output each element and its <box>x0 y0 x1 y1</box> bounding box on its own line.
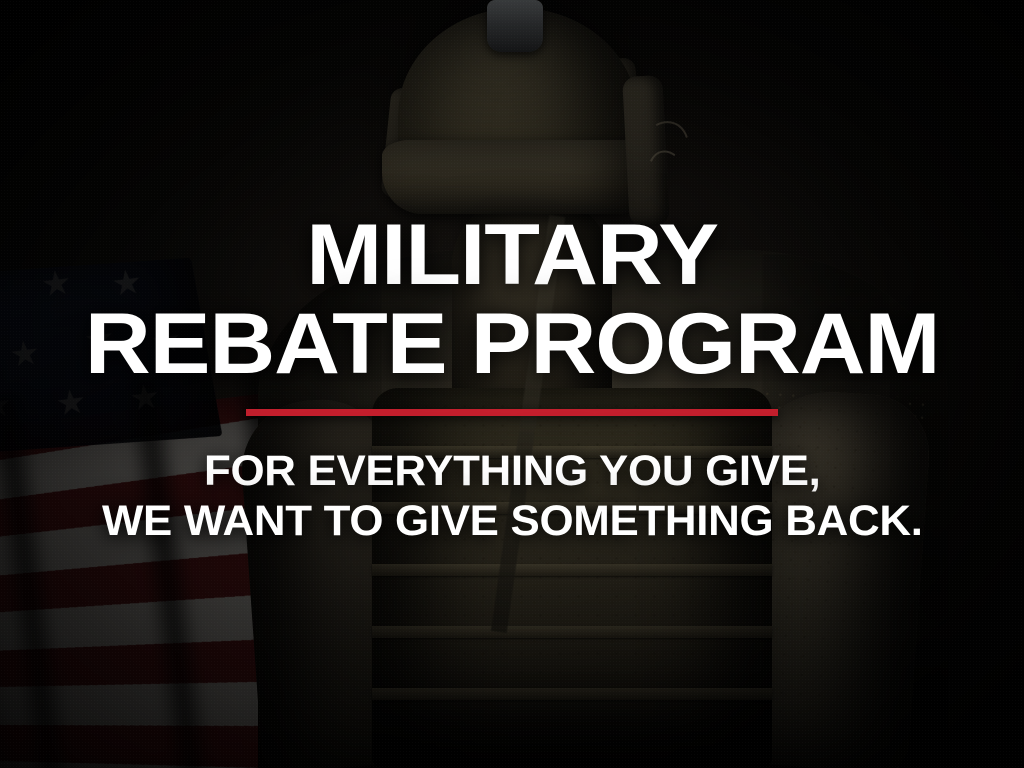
subtitle: FOR EVERYTHING YOU GIVE, WE WANT TO GIVE… <box>102 446 923 547</box>
page-title: MILITARY REBATE PROGRAM <box>109 0 915 387</box>
subtitle-line-1: FOR EVERYTHING YOU GIVE, <box>102 446 923 496</box>
headline-line-2: REBATE PROGRAM <box>85 303 940 386</box>
headline-line-1: MILITARY <box>85 214 940 297</box>
subtitle-line-2: WE WANT TO GIVE SOMETHING BACK. <box>102 496 923 546</box>
poster-text-block: MILITARY REBATE PROGRAM FOR EVERYTHING Y… <box>0 0 1024 768</box>
red-rule-divider <box>246 409 778 416</box>
military-rebate-poster: MILITARY REBATE PROGRAM FOR EVERYTHING Y… <box>0 0 1024 768</box>
